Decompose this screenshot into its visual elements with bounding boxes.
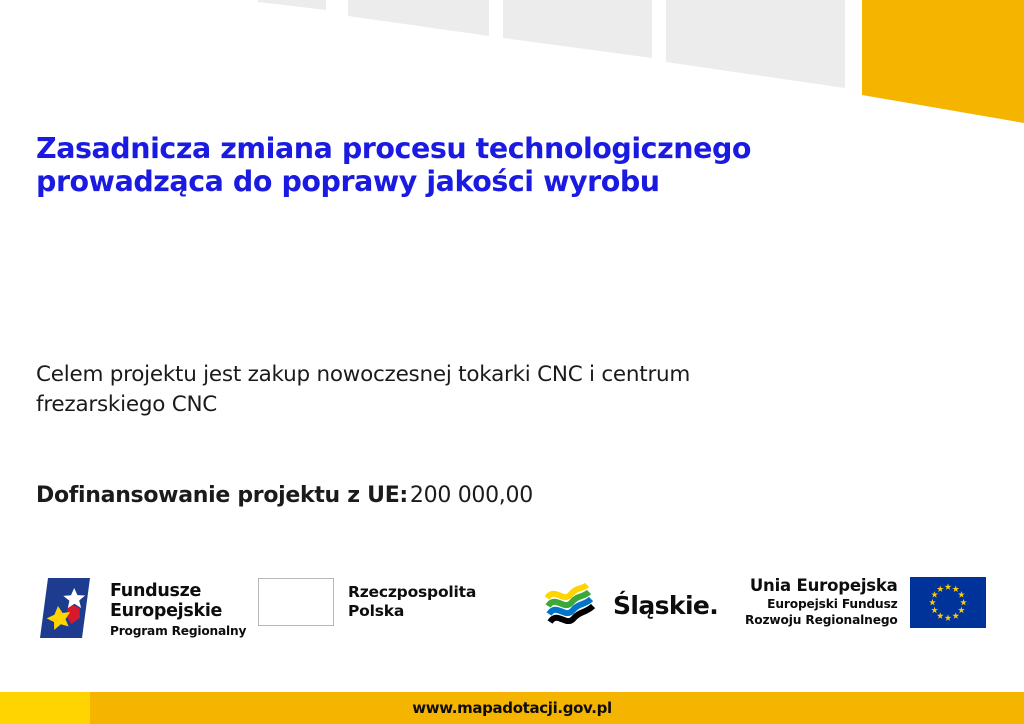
- fundusze-europejskie-emblem-icon: [38, 572, 98, 649]
- page-title: Zasadnicza zmiana procesu technologiczne…: [36, 132, 796, 198]
- title-line-2: prowadząca do poprawy jakości wyrobu: [36, 165, 796, 198]
- fundusze-europejskie-text: Fundusze Europejskie Program Regionalny: [110, 581, 246, 640]
- slaskie-waves-icon: [545, 582, 601, 629]
- yellow-shape: [862, 0, 1024, 123]
- footer-url-link[interactable]: www.mapadotacji.gov.pl: [0, 692, 1024, 724]
- eu-flag-stars: [910, 577, 986, 628]
- title-line-1: Zasadnicza zmiana procesu technologiczne…: [36, 132, 796, 165]
- grey-shape-4: [666, 0, 845, 88]
- ue-line-2: Europejski Fundusz: [767, 596, 897, 612]
- top-decoration-banner: [0, 0, 1024, 130]
- rp-line-1: Rzeczpospolita: [348, 583, 476, 602]
- fe-line-2: Europejskie: [110, 601, 246, 621]
- slaskie-text: Śląskie.: [613, 592, 718, 620]
- funding-label: Dofinansowanie projektu z UE:: [36, 483, 408, 508]
- logo-strip: Fundusze Europejskie Program Regionalny …: [0, 568, 1024, 660]
- logo-fundusze-europejskie: Fundusze Europejskie Program Regionalny: [38, 572, 246, 649]
- logo-unia-europejska: Unia Europejska Europejski Fundusz Rozwo…: [745, 576, 986, 628]
- ue-line-3: Rozwoju Regionalnego: [745, 612, 898, 628]
- grey-shape-3: [503, 0, 652, 58]
- top-decoration-svg: [0, 0, 1024, 130]
- unia-europejska-text: Unia Europejska Europejski Fundusz Rozwo…: [745, 576, 898, 628]
- ue-line-1: Unia Europejska: [750, 576, 898, 596]
- grey-shape-2: [348, 0, 489, 36]
- eu-flag-icon: [910, 577, 986, 628]
- logo-slaskie: Śląskie.: [545, 582, 718, 629]
- fe-line-3: Program Regionalny: [110, 623, 246, 640]
- funding-amount-row: Dofinansowanie projektu z UE:200 000,00: [36, 483, 533, 508]
- rzeczpospolita-polska-text: Rzeczpospolita Polska: [348, 583, 476, 621]
- goal-line-1: Celem projektu jest zakup nowoczesnej to…: [36, 360, 836, 390]
- poland-flag-icon: [258, 578, 334, 626]
- funding-value: 200 000,00: [410, 483, 533, 508]
- goal-line-2: frezarskiego CNC: [36, 390, 836, 420]
- logo-rzeczpospolita-polska: Rzeczpospolita Polska: [258, 578, 476, 626]
- fe-line-1: Fundusze: [110, 581, 246, 601]
- footer-bar: www.mapadotacji.gov.pl: [0, 692, 1024, 724]
- grey-shape-1: [258, 0, 326, 10]
- slaskie-label: Śląskie.: [613, 592, 718, 620]
- rp-line-2: Polska: [348, 602, 476, 621]
- project-goal-text: Celem projektu jest zakup nowoczesnej to…: [36, 360, 836, 420]
